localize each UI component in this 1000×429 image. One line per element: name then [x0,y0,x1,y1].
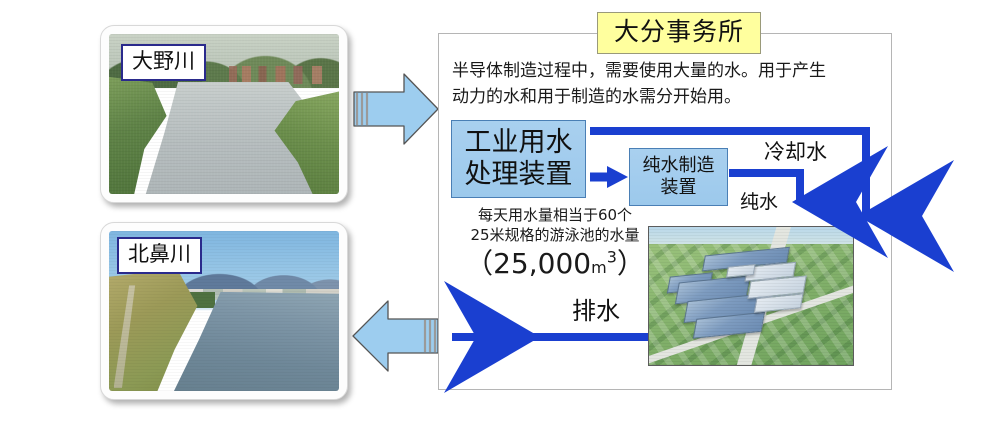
photo-frame-kitahana-river: 北鼻川 [100,222,348,400]
volume-value-row: （25,000m3） [440,247,670,281]
panel-title-banner: 大分事务所 [597,12,761,54]
intro-paragraph: 半导体制造过程中，需要使用大量的水。用于产生 动力的水和用于制造的水需分开始用。 [452,58,872,111]
kitahana-river-image: 北鼻川 [109,231,339,391]
label-drainage: 排水 [572,291,620,326]
purewater-box-line-1: 纯水制造 [643,155,715,177]
label-pure-water: 纯水 [740,187,778,214]
industrial-water-treatment-box: 工业用水 处理装置 [451,120,586,198]
industrial-box-line-2: 处理装置 [465,159,573,191]
volume-value: 25,000 [493,247,591,280]
intro-line-1: 半导体制造过程中，需要使用大量的水。用于产生 [452,58,872,84]
discharge-block-arrow [350,296,440,376]
factory-photo-grain [649,227,853,365]
pure-water-production-box: 纯水制造 装置 [629,148,728,206]
volume-paren-close: ） [617,247,645,280]
diagram-canvas: 大野川 北鼻川 [0,0,1000,429]
volume-note-line-1: 每天用水量相当于60个 [440,205,670,225]
daily-water-volume-note: 每天用水量相当于60个 25米规格的游泳池的水量 （25,000m3） [440,205,670,280]
ono-river-image: 大野川 [109,34,339,194]
intake-block-arrow [352,70,440,148]
industrial-box-line-1: 工业用水 [465,127,573,159]
volume-exponent: 3 [607,247,617,266]
intro-line-2: 动力的水和用于制造的水需分开始用。 [452,84,872,110]
factory-aerial-photo [648,226,854,366]
volume-note-line-2: 25米规格的游泳池的水量 [440,225,670,245]
volume-unit: m [591,258,607,277]
label-cooling-water: 冷却水 [764,136,827,166]
photo-label-ono-river: 大野川 [121,44,206,81]
photo-frame-ono-river: 大野川 [100,25,348,203]
volume-paren-open: （ [465,247,493,280]
photo-label-kitahana-river: 北鼻川 [117,237,202,274]
purewater-box-line-2: 装置 [643,177,715,199]
